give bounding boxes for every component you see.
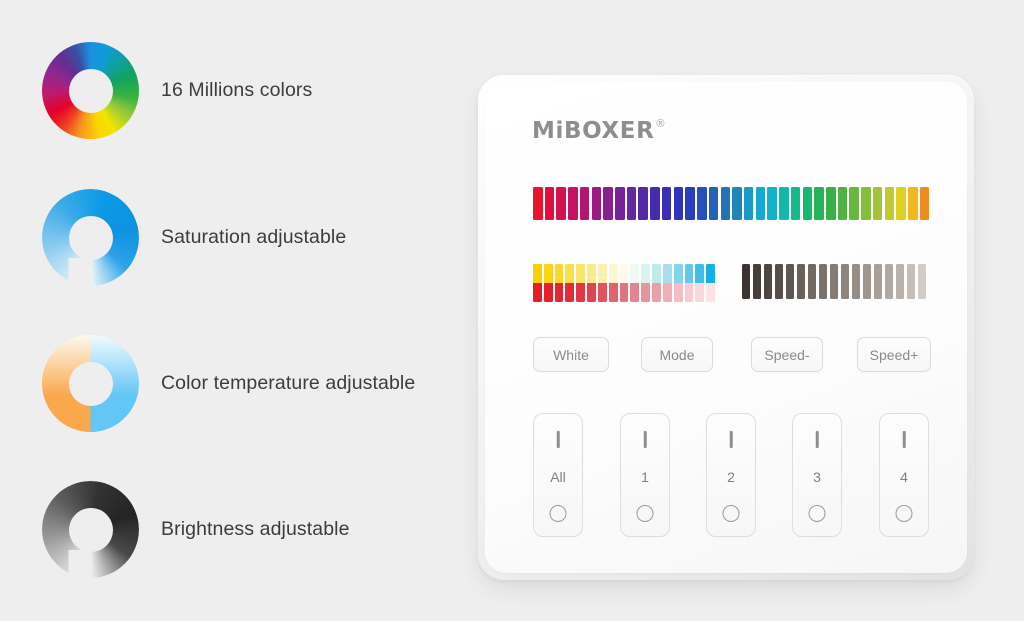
- saturation-swatch-5[interactable]: [587, 264, 596, 302]
- hue-swatch-28[interactable]: [861, 187, 871, 220]
- saturation-swatch-11[interactable]: [652, 264, 661, 302]
- hue-swatch-22[interactable]: [791, 187, 801, 220]
- saturation-swatch-2-top[interactable]: [555, 264, 564, 283]
- hue-swatch-9[interactable]: [638, 187, 648, 220]
- hue-swatch-30[interactable]: [885, 187, 895, 220]
- hue-swatch-32[interactable]: [908, 187, 918, 220]
- power-off-icon[interactable]: [896, 505, 913, 522]
- brightness-ring-icon: [42, 481, 139, 578]
- hue-swatch-27[interactable]: [849, 187, 859, 220]
- zone-button-row: All 1 2 3 4: [533, 413, 929, 538]
- saturation-swatch-5-bottom[interactable]: [587, 283, 596, 302]
- zone-button-1[interactable]: 1: [620, 413, 670, 537]
- zone-button-4[interactable]: 4: [879, 413, 929, 537]
- gray-swatch-16[interactable]: [918, 264, 926, 299]
- gray-swatch-1[interactable]: [753, 264, 761, 299]
- gray-swatch-6[interactable]: [808, 264, 816, 299]
- hue-swatch-26[interactable]: [838, 187, 848, 220]
- hue-swatch-3[interactable]: [568, 187, 578, 220]
- saturation-swatch-15-top[interactable]: [695, 264, 704, 283]
- saturation-swatch-10[interactable]: [641, 264, 650, 302]
- feature-list: 16 Millions colors Saturation adjustable…: [0, 0, 470, 621]
- saturation-swatch-15[interactable]: [695, 264, 704, 302]
- power-on-icon[interactable]: [644, 431, 647, 448]
- saturation-swatch-9-top[interactable]: [630, 264, 639, 283]
- saturation-swatch-14[interactable]: [685, 264, 694, 302]
- saturation-swatch-16-bottom[interactable]: [706, 283, 715, 302]
- saturation-swatch-2-bottom[interactable]: [555, 283, 564, 302]
- hue-swatch-24[interactable]: [814, 187, 824, 220]
- gray-swatch-10[interactable]: [852, 264, 860, 299]
- saturation-swatch-3-top[interactable]: [565, 264, 574, 283]
- zone-button-4-label: 4: [880, 469, 928, 485]
- hue-swatch-25[interactable]: [826, 187, 836, 220]
- speed-up-button[interactable]: Speed+: [857, 337, 931, 372]
- power-off-icon[interactable]: [550, 505, 567, 522]
- saturation-swatch-1[interactable]: [544, 264, 553, 302]
- power-off-icon[interactable]: [809, 505, 826, 522]
- saturation-swatch-0-bottom[interactable]: [533, 283, 542, 302]
- feature-label-colors: 16 Millions colors: [161, 79, 312, 102]
- saturation-swatch-10-top[interactable]: [641, 264, 650, 283]
- hue-color-bar[interactable]: [533, 187, 929, 220]
- hue-swatch-29[interactable]: [873, 187, 883, 220]
- saturation-swatch-8-bottom[interactable]: [620, 283, 629, 302]
- brand-logo: MiBOXER ®: [532, 120, 665, 143]
- gray-swatch-8[interactable]: [830, 264, 838, 299]
- saturation-swatch-15-bottom[interactable]: [695, 283, 704, 302]
- color-temperature-ring-icon: [42, 335, 139, 432]
- saturation-swatch-12[interactable]: [663, 264, 672, 302]
- saturation-swatch-14-top[interactable]: [685, 264, 694, 283]
- hue-swatch-5[interactable]: [592, 187, 602, 220]
- gray-swatch-12[interactable]: [874, 264, 882, 299]
- saturation-swatch-5-top[interactable]: [587, 264, 596, 283]
- saturation-swatch-12-bottom[interactable]: [663, 283, 672, 302]
- zone-button-3-label: 3: [793, 469, 841, 485]
- zone-button-3[interactable]: 3: [792, 413, 842, 537]
- saturation-swatch-7-top[interactable]: [609, 264, 618, 283]
- saturation-swatch-12-top[interactable]: [663, 264, 672, 283]
- saturation-swatch-8[interactable]: [620, 264, 629, 302]
- hue-swatch-19[interactable]: [756, 187, 766, 220]
- color-wheel-icon: [42, 42, 139, 139]
- saturation-ring-icon-hole: [69, 216, 113, 260]
- saturation-swatch-7-bottom[interactable]: [609, 283, 618, 302]
- gray-swatch-3[interactable]: [775, 264, 783, 299]
- saturation-swatch-11-bottom[interactable]: [652, 283, 661, 302]
- gray-swatch-9[interactable]: [841, 264, 849, 299]
- gray-swatch-7[interactable]: [819, 264, 827, 299]
- feature-item-saturation: Saturation adjustable: [42, 189, 346, 286]
- saturation-swatch-11-top[interactable]: [652, 264, 661, 283]
- saturation-swatch-4[interactable]: [576, 264, 585, 302]
- saturation-swatch-3[interactable]: [565, 264, 574, 302]
- gray-swatch-4[interactable]: [786, 264, 794, 299]
- registered-trademark-icon: ®: [656, 119, 664, 130]
- feature-item-color-temperature: Color temperature adjustable: [42, 335, 415, 432]
- feature-label-saturation: Saturation adjustable: [161, 226, 346, 249]
- brightness-ring-icon-notch: [68, 550, 91, 578]
- zone-button-all-label: All: [534, 469, 582, 485]
- saturation-swatch-7[interactable]: [609, 264, 618, 302]
- feature-label-brightness: Brightness adjustable: [161, 518, 350, 541]
- hue-swatch-23[interactable]: [803, 187, 813, 220]
- hue-swatch-4[interactable]: [580, 187, 590, 220]
- gray-swatch-0[interactable]: [742, 264, 750, 299]
- saturation-swatch-3-bottom[interactable]: [565, 283, 574, 302]
- gray-swatch-13[interactable]: [885, 264, 893, 299]
- power-on-icon[interactable]: [557, 431, 560, 448]
- color-temperature-ring-icon-hole: [69, 362, 113, 406]
- gray-swatch-5[interactable]: [797, 264, 805, 299]
- gray-swatch-15[interactable]: [907, 264, 915, 299]
- saturation-swatch-9-bottom[interactable]: [630, 283, 639, 302]
- hue-swatch-15[interactable]: [709, 187, 719, 220]
- saturation-swatch-4-top[interactable]: [576, 264, 585, 283]
- saturation-ring-icon: [42, 189, 139, 286]
- hue-swatch-11[interactable]: [662, 187, 672, 220]
- brand-logo-text: MiBOXER: [532, 120, 654, 143]
- zone-button-2[interactable]: 2: [706, 413, 756, 537]
- power-off-icon[interactable]: [637, 505, 654, 522]
- saturation-ring-icon-notch: [68, 258, 91, 286]
- saturation-swatch-8-top[interactable]: [620, 264, 629, 283]
- hue-swatch-13[interactable]: [685, 187, 695, 220]
- saturation-color-bar[interactable]: [533, 264, 717, 302]
- hue-swatch-1[interactable]: [545, 187, 555, 220]
- saturation-swatch-10-bottom[interactable]: [641, 283, 650, 302]
- hue-swatch-12[interactable]: [674, 187, 684, 220]
- saturation-swatch-2[interactable]: [555, 264, 564, 302]
- brightness-gray-bar[interactable]: [742, 264, 929, 299]
- feature-item-brightness: Brightness adjustable: [42, 481, 350, 578]
- saturation-swatch-1-bottom[interactable]: [544, 283, 553, 302]
- hue-swatch-7[interactable]: [615, 187, 625, 220]
- mode-button[interactable]: Mode: [641, 337, 713, 372]
- hue-swatch-8[interactable]: [627, 187, 637, 220]
- color-wheel-icon-hole: [69, 69, 113, 113]
- led-control-panel: MiBOXER ® White Mode Speed- Speed+ All 1: [478, 75, 974, 580]
- speed-down-button[interactable]: Speed-: [751, 337, 823, 372]
- hue-swatch-20[interactable]: [767, 187, 777, 220]
- gray-swatch-14[interactable]: [896, 264, 904, 299]
- saturation-swatch-14-bottom[interactable]: [685, 283, 694, 302]
- feature-label-color-temperature: Color temperature adjustable: [161, 372, 415, 395]
- saturation-swatch-13-bottom[interactable]: [674, 283, 683, 302]
- saturation-swatch-0[interactable]: [533, 264, 542, 302]
- saturation-swatch-13[interactable]: [674, 264, 683, 302]
- gray-swatch-11[interactable]: [863, 264, 871, 299]
- power-on-icon[interactable]: [816, 431, 819, 448]
- saturation-swatch-9[interactable]: [630, 264, 639, 302]
- power-on-icon[interactable]: [730, 431, 733, 448]
- hue-swatch-33[interactable]: [920, 187, 930, 220]
- feature-item-colors: 16 Millions colors: [42, 42, 312, 139]
- saturation-swatch-6-bottom[interactable]: [598, 283, 607, 302]
- panel-face: MiBOXER ® White Mode Speed- Speed+ All 1: [485, 82, 967, 573]
- zone-button-2-label: 2: [707, 469, 755, 485]
- hue-swatch-17[interactable]: [732, 187, 742, 220]
- power-on-icon[interactable]: [903, 431, 906, 448]
- function-button-row: White Mode Speed- Speed+: [533, 337, 929, 372]
- saturation-swatch-16[interactable]: [706, 264, 715, 302]
- hue-swatch-6[interactable]: [603, 187, 613, 220]
- saturation-swatch-1-top[interactable]: [544, 264, 553, 283]
- saturation-swatch-6-top[interactable]: [598, 264, 607, 283]
- hue-swatch-0[interactable]: [533, 187, 543, 220]
- hue-swatch-14[interactable]: [697, 187, 707, 220]
- hue-swatch-10[interactable]: [650, 187, 660, 220]
- zone-button-1-label: 1: [621, 469, 669, 485]
- saturation-swatch-6[interactable]: [598, 264, 607, 302]
- hue-swatch-16[interactable]: [721, 187, 731, 220]
- saturation-swatch-4-bottom[interactable]: [576, 283, 585, 302]
- hue-swatch-31[interactable]: [896, 187, 906, 220]
- saturation-swatch-0-top[interactable]: [533, 264, 542, 283]
- hue-swatch-21[interactable]: [779, 187, 789, 220]
- brightness-ring-icon-hole: [69, 508, 113, 552]
- hue-swatch-2[interactable]: [556, 187, 566, 220]
- power-off-icon[interactable]: [723, 505, 740, 522]
- saturation-swatch-13-top[interactable]: [674, 264, 683, 283]
- zone-button-all[interactable]: All: [533, 413, 583, 537]
- gray-swatch-2[interactable]: [764, 264, 772, 299]
- saturation-swatch-16-top[interactable]: [706, 264, 715, 283]
- white-button[interactable]: White: [533, 337, 609, 372]
- hue-swatch-18[interactable]: [744, 187, 754, 220]
